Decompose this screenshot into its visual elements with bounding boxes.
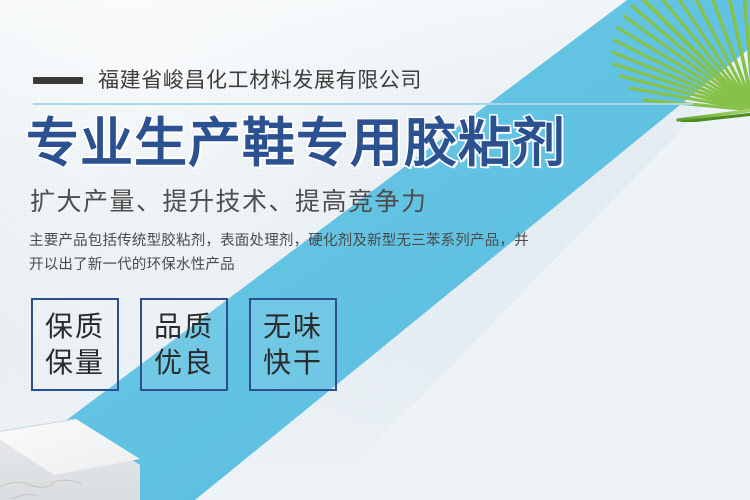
quality-box-line2: 优良 <box>154 346 214 380</box>
brand-line: 福建省峻昌化工材料发展有限公司 <box>33 70 422 91</box>
company-name: 福建省峻昌化工材料发展有限公司 <box>98 70 422 91</box>
subheadline: 扩大产量、提升技术、提高竞争力 <box>30 190 428 215</box>
quality-box-line2: 快干 <box>263 346 323 380</box>
quality-box-line1: 无味 <box>263 310 323 344</box>
dash-rule-icon <box>33 77 83 84</box>
quality-box: 保质 保量 <box>31 298 119 391</box>
quality-box-group: 保质 保量 品质 优良 无味 快干 <box>31 298 337 391</box>
promo-banner: 福建省峻昌化工材料发展有限公司 专业生产鞋专用胶粘剂 扩大产量、提升技术、提高竞… <box>0 0 750 500</box>
quality-box: 无味 快干 <box>249 298 337 391</box>
quality-box-line1: 品质 <box>154 310 214 344</box>
headline: 专业生产鞋专用胶粘剂 <box>26 115 566 172</box>
description-text: 主要产品包括传统型胶粘剂，表面处理剂，硬化剂及新型无三苯系列产品，并开以出了新一… <box>29 230 539 278</box>
quality-box: 品质 优良 <box>140 298 228 391</box>
divider-rule <box>33 103 693 105</box>
quality-box-line1: 保质 <box>45 310 105 344</box>
banner-content: 福建省峻昌化工材料发展有限公司 专业生产鞋专用胶粘剂 扩大产量、提升技术、提高竞… <box>0 0 750 500</box>
quality-box-line2: 保量 <box>45 346 105 380</box>
